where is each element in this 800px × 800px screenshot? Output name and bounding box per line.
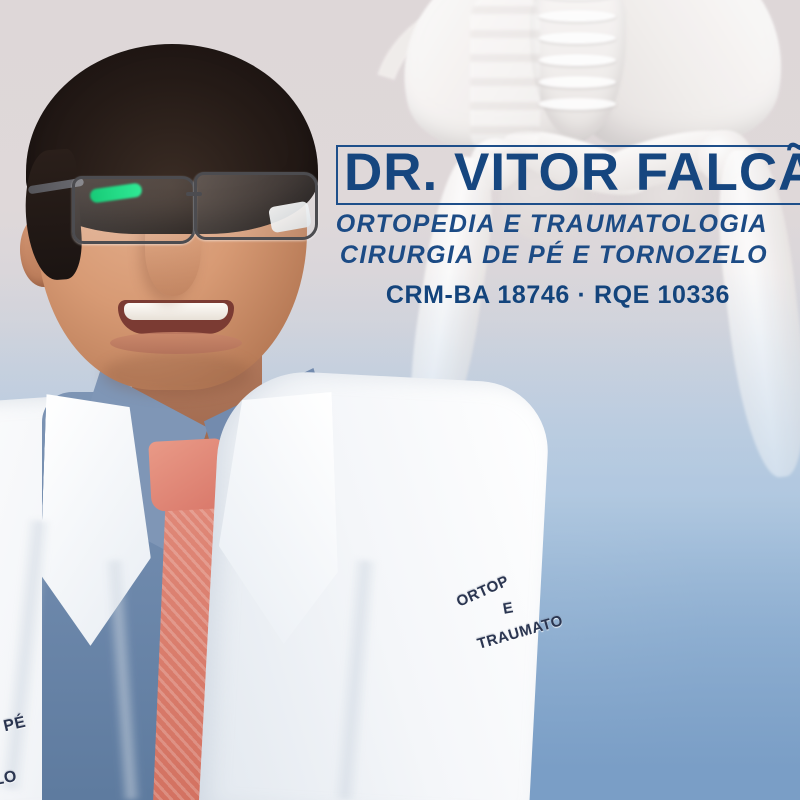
chin-shadow (102, 352, 252, 396)
doctor-name: DR. VITOR FALCÃO (344, 142, 800, 204)
doctor-profile-banner: ORTOP E TRAUMATO O PÉ LO DR. VITOR FALCÃ… (0, 0, 800, 800)
registration-numbers: CRM-BA 18746 · RQE 10336 (386, 281, 730, 310)
specialty-line-2: CIRURGIA DE PÉ E TORNOZELO (340, 241, 768, 270)
specialty-line-1: ORTOPEDIA E TRAUMATOLOGIA (336, 210, 768, 239)
lower-lip (110, 332, 242, 354)
coat-embroidery-line-2: E (502, 599, 515, 618)
identity-text-block: DR. VITOR FALCÃO ORTOPEDIA E TRAUMATOLOG… (0, 0, 800, 320)
